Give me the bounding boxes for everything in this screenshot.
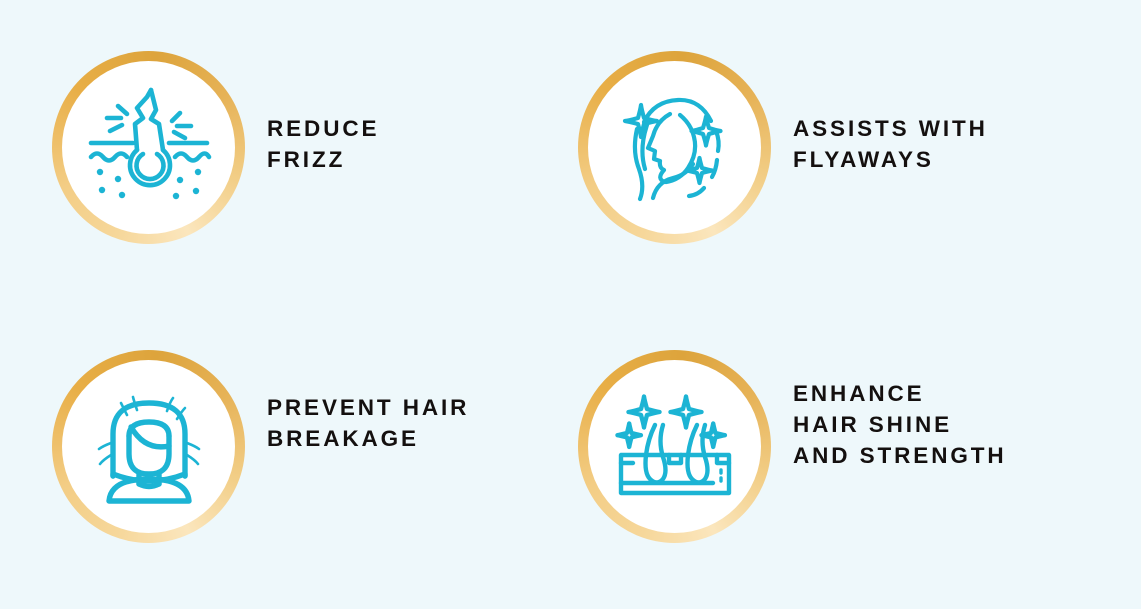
benefit-item-assists-with-flyaways[interactable]: ASSISTS WITH FLYAWAYS bbox=[528, 0, 1141, 305]
woman-profile-sparkles-icon bbox=[611, 84, 739, 212]
icon-badge-enhance-hair-shine-and-strength bbox=[578, 350, 771, 543]
benefits-grid: REDUCE FRIZZ bbox=[0, 0, 1141, 609]
woman-long-hair-breakage-icon bbox=[85, 383, 213, 511]
benefit-item-enhance-hair-shine-and-strength[interactable]: ENHANCE HAIR SHINE AND STRENGTH bbox=[528, 305, 1141, 609]
benefit-label-assists-with-flyaways: ASSISTS WITH FLYAWAYS bbox=[793, 113, 988, 175]
icon-badge-assists-with-flyaways bbox=[578, 51, 771, 244]
benefit-item-reduce-frizz[interactable]: REDUCE FRIZZ bbox=[0, 0, 528, 305]
two-hair-follicles-shine-icon bbox=[611, 383, 739, 511]
hair-follicle-frizz-icon bbox=[85, 84, 213, 212]
benefit-label-enhance-hair-shine-and-strength: ENHANCE HAIR SHINE AND STRENGTH bbox=[793, 378, 1007, 471]
benefit-item-prevent-hair-breakage[interactable]: PREVENT HAIR BREAKAGE bbox=[0, 305, 528, 609]
benefit-label-reduce-frizz: REDUCE FRIZZ bbox=[267, 113, 379, 175]
icon-badge-prevent-hair-breakage bbox=[52, 350, 245, 543]
icon-badge-reduce-frizz bbox=[52, 51, 245, 244]
benefit-label-prevent-hair-breakage: PREVENT HAIR BREAKAGE bbox=[267, 392, 469, 454]
